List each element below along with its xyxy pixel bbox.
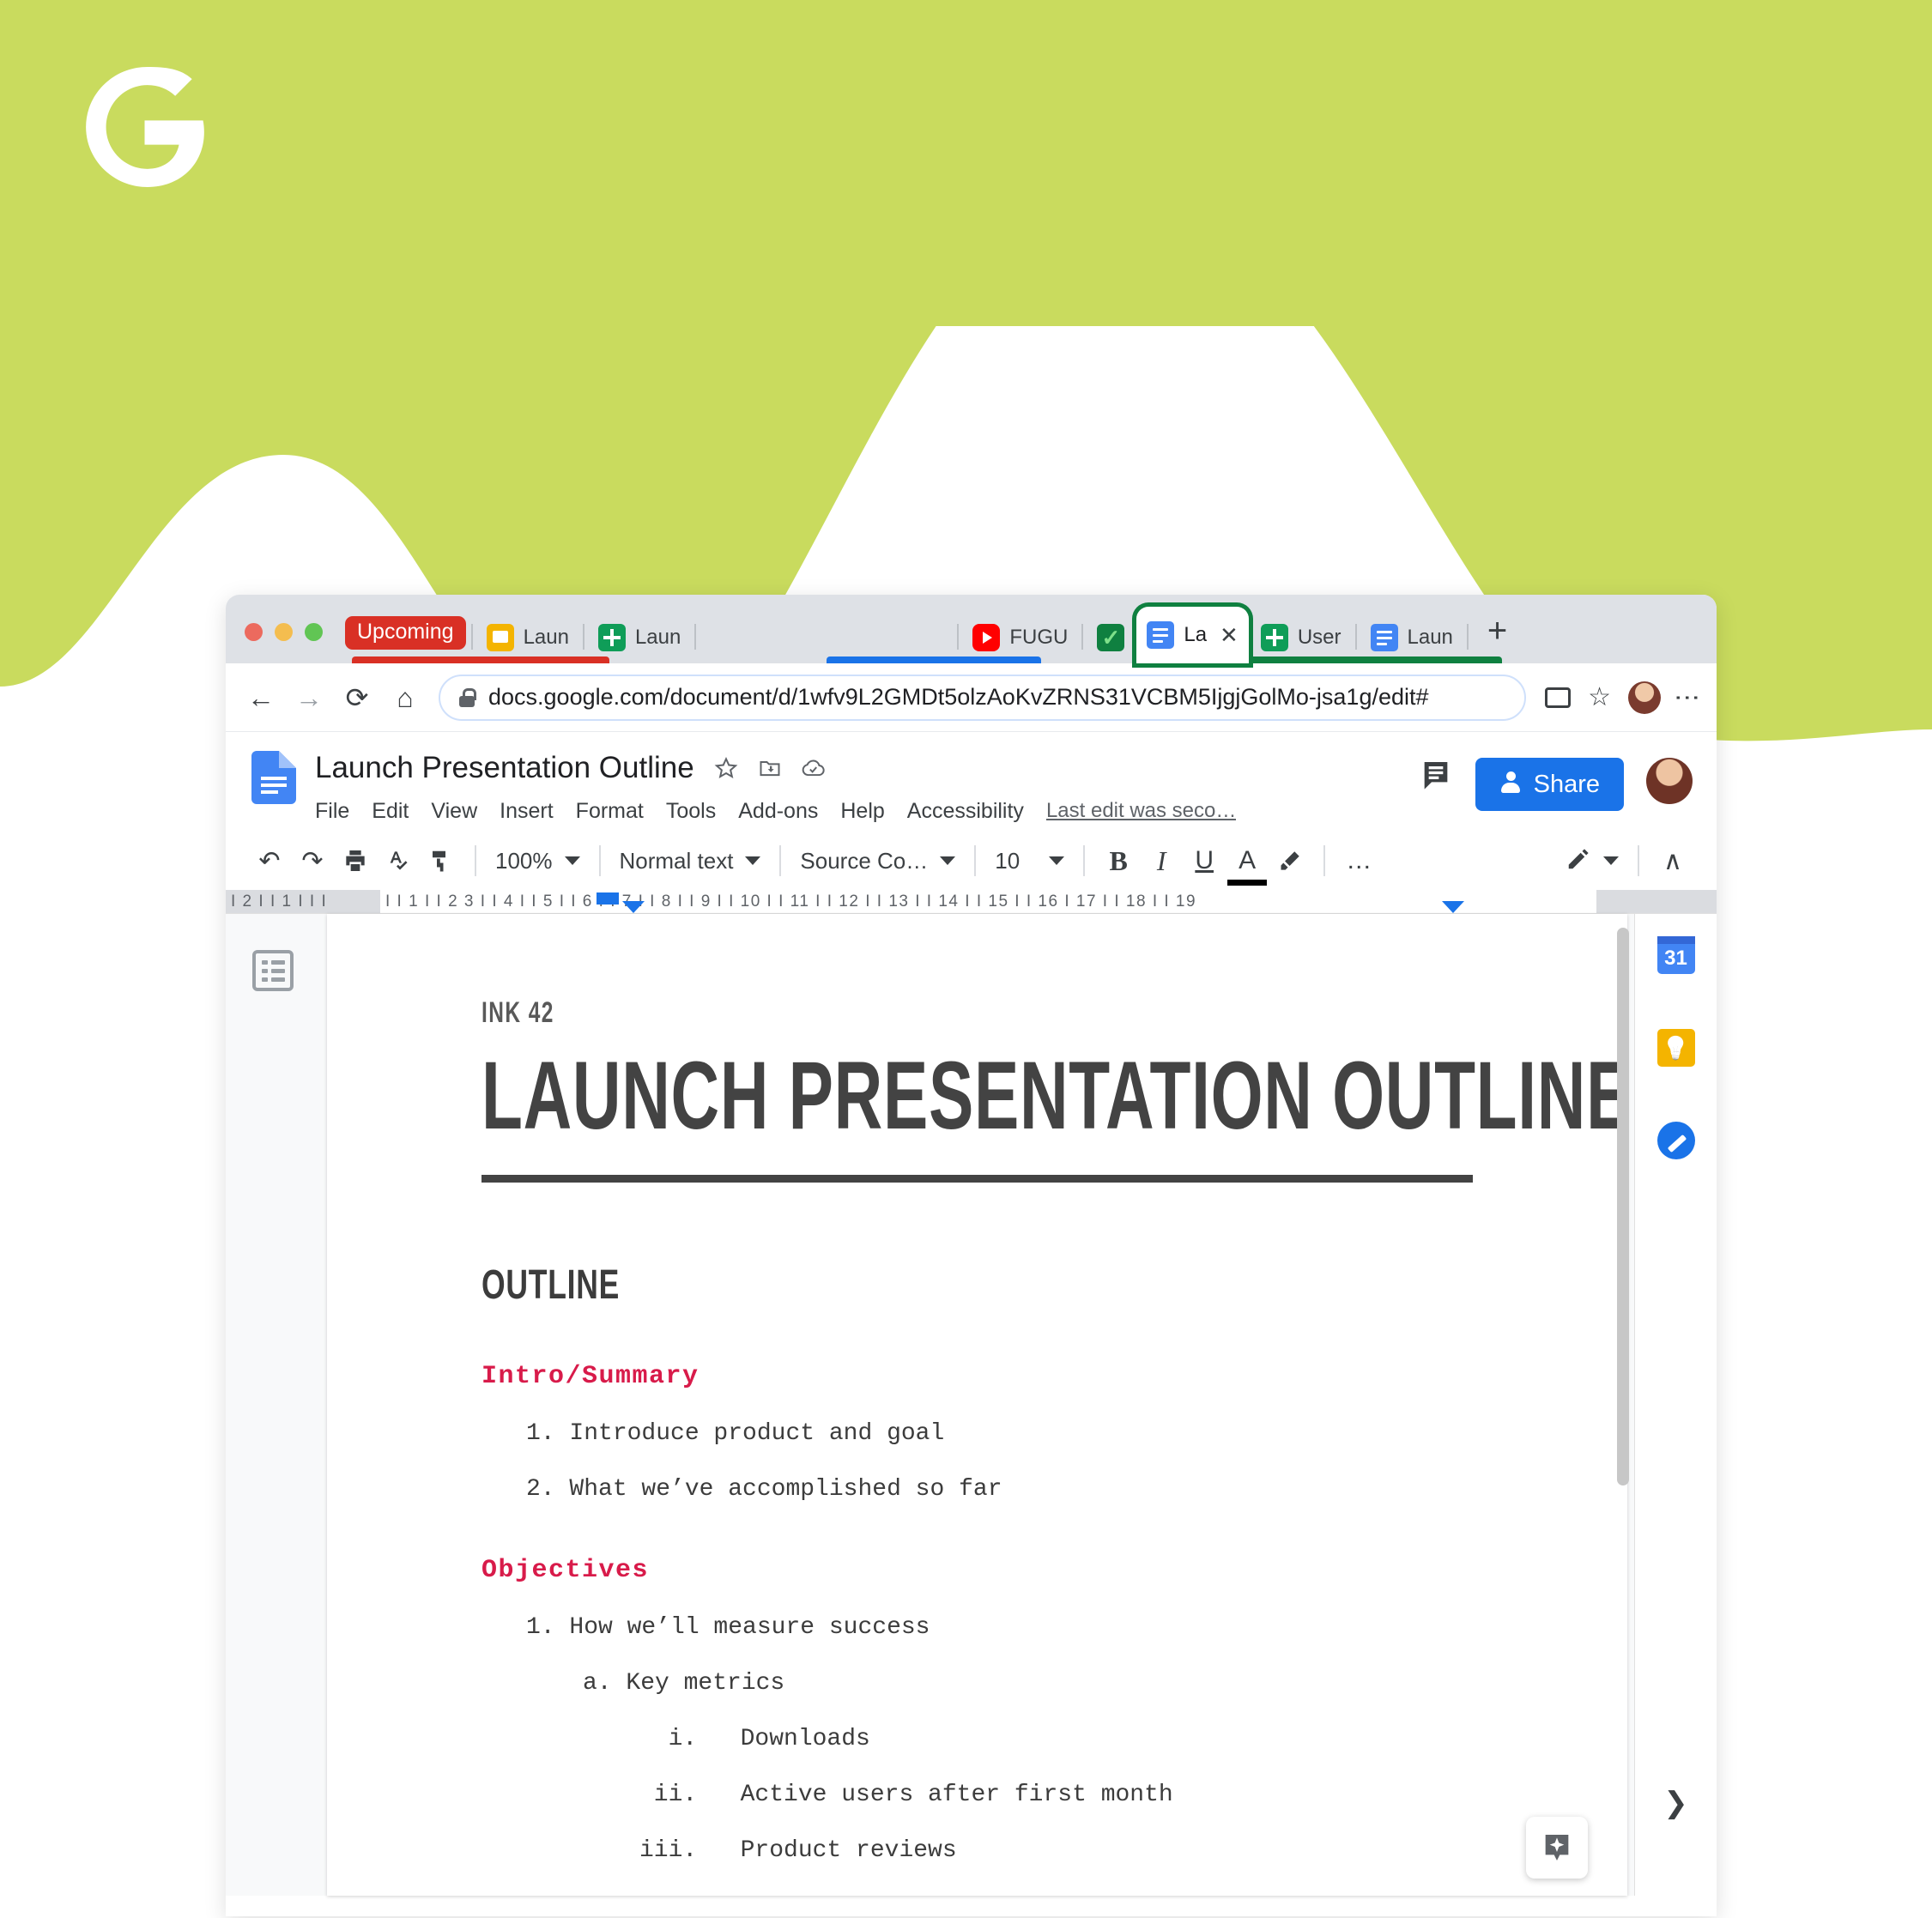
paint-format-icon[interactable] — [420, 839, 463, 882]
chevron-down-icon — [565, 856, 580, 865]
tab-divider — [583, 624, 584, 650]
google-g-logo — [74, 67, 215, 187]
highlight-pen-icon[interactable] — [1269, 839, 1311, 882]
kebab-menu-icon[interactable]: ⋮ — [1678, 685, 1696, 711]
chevron-down-icon — [745, 856, 760, 865]
paragraph-style-selector[interactable]: Normal text — [613, 841, 768, 880]
explore-sparkle-icon[interactable] — [1526, 1817, 1588, 1879]
address-bar[interactable]: docs.google.com/document/d/1wfv9L2GMDt5o… — [439, 675, 1526, 721]
tab-divider — [1467, 624, 1469, 650]
tasks-icon — [1097, 624, 1124, 651]
sheets-icon — [598, 624, 626, 651]
text-color-button[interactable]: A — [1226, 839, 1269, 882]
docs-header-actions: Share — [1419, 746, 1693, 832]
calendar-badge: 31 — [1657, 944, 1695, 974]
tab-title: Laun — [635, 626, 681, 650]
list-item: i. Downloads — [481, 1726, 1517, 1752]
toolbar-divider — [475, 845, 476, 876]
undo-icon[interactable]: ↶ — [248, 839, 291, 882]
ruler-gutter-right — [1596, 890, 1717, 913]
browser-window: Upcoming Laun Laun FUGU — [226, 595, 1717, 1916]
omnibox-actions: ☆ ⋮ — [1545, 681, 1696, 714]
italic-button[interactable]: I — [1140, 839, 1183, 882]
docs-title-block: Launch Presentation Outline — [315, 746, 1419, 832]
document-scrollbar[interactable] — [1617, 928, 1629, 1485]
tab-tasks[interactable] — [1085, 612, 1136, 663]
share-button-label: Share — [1534, 771, 1600, 799]
move-to-folder-icon[interactable] — [758, 756, 782, 780]
tab-title: Laun — [1408, 626, 1453, 650]
tab-sheets-user[interactable]: User — [1249, 612, 1354, 663]
window-controls — [245, 623, 323, 663]
keep-icon — [487, 624, 514, 651]
bold-button[interactable]: B — [1097, 839, 1140, 882]
reload-icon[interactable]: ⟳ — [342, 684, 372, 711]
ruler-marks: I I 1 I I 2 3 I I 4 I I 5 I I 6 I I 7 I … — [380, 890, 1596, 913]
list-item: iii. Product reviews — [481, 1837, 1517, 1864]
font-value: Source Co… — [800, 848, 928, 874]
browser-toolbar: ← → ⟳ ⌂ docs.google.com/document/d/1wfv9… — [226, 663, 1717, 732]
subsection-heading: Objectives — [481, 1556, 1517, 1585]
zoom-value: 100% — [495, 848, 553, 874]
browser-tab-strip: Upcoming Laun Laun FUGU — [226, 595, 1717, 663]
google-docs-icon — [251, 751, 296, 804]
address-bar-url: docs.google.com/document/d/1wfv9L2GMDt5o… — [488, 684, 1429, 711]
edit-mode-selector[interactable] — [1559, 841, 1626, 880]
star-icon[interactable]: ☆ — [1588, 685, 1611, 711]
docs-icon — [1147, 621, 1174, 649]
docs-header: Launch Presentation Outline — [226, 732, 1717, 832]
list-item: 2. What we’ve accomplished so far — [481, 1476, 1517, 1503]
tab-group-underline-blue — [827, 656, 1041, 663]
toolbar-divider — [1638, 845, 1639, 876]
chevron-down-icon — [1049, 856, 1064, 865]
document-eyebrow: INK 42 — [481, 996, 1227, 1030]
collapse-toolbar-icon[interactable]: ∧ — [1651, 839, 1694, 882]
toolbar-divider — [599, 845, 601, 876]
tab-hidden-group[interactable] — [698, 612, 955, 663]
tab-divider — [694, 624, 696, 650]
spellcheck-icon[interactable] — [377, 839, 420, 882]
paragraph-style-value: Normal text — [620, 848, 734, 874]
tab-title: FUGU — [1009, 626, 1068, 650]
menu-file[interactable]: File — [315, 799, 349, 824]
google-calendar-icon[interactable]: 31 — [1657, 936, 1695, 974]
docs-body: INK 42 LAUNCH PRESENTATION OUTLINE OUTLI… — [226, 914, 1717, 1896]
tab-docs-active[interactable]: La ✕ — [1136, 607, 1249, 663]
docs-ruler[interactable]: I 2 I I 1 I I I I I 1 I I 2 3 I I 4 I I … — [226, 890, 1717, 914]
first-line-indent-marker[interactable] — [622, 901, 645, 913]
zoom-selector[interactable]: 100% — [488, 841, 587, 880]
document-canvas: INK 42 LAUNCH PRESENTATION OUTLINE OUTLI… — [320, 914, 1634, 1896]
more-options-icon[interactable]: … — [1337, 839, 1380, 882]
share-button[interactable]: Share — [1475, 758, 1624, 811]
tab-divider — [1355, 624, 1357, 650]
redo-icon[interactable]: ↷ — [291, 839, 334, 882]
font-size-value: 10 — [995, 848, 1020, 874]
chevron-down-icon — [1603, 856, 1619, 865]
menu-add-ons[interactable]: Add-ons — [738, 799, 818, 824]
tab-divider — [471, 624, 473, 650]
menu-tools[interactable]: Tools — [666, 799, 716, 824]
maximize-window-button[interactable] — [305, 623, 323, 641]
chevron-right-icon[interactable]: ❯ — [1663, 1786, 1688, 1820]
tab-group-underline-red — [352, 656, 609, 663]
menu-format[interactable]: Format — [576, 799, 644, 824]
tab-divider — [1081, 624, 1083, 650]
star-icon[interactable] — [713, 755, 739, 781]
section-heading-outline: OUTLINE — [481, 1262, 1248, 1309]
chevron-down-icon — [940, 856, 955, 865]
docs-left-rail — [226, 914, 320, 1896]
menu-insert[interactable]: Insert — [500, 799, 554, 824]
underline-button[interactable]: U — [1183, 839, 1226, 882]
menu-edit[interactable]: Edit — [372, 799, 409, 824]
comment-history-icon[interactable] — [1419, 758, 1453, 792]
cast-icon[interactable] — [1545, 687, 1571, 708]
avatar[interactable] — [1628, 681, 1661, 714]
youtube-icon — [972, 624, 1000, 651]
close-window-button[interactable] — [245, 623, 263, 641]
page-title[interactable]: Launch Presentation Outline — [315, 751, 694, 785]
saved-to-drive-icon[interactable] — [801, 756, 827, 780]
docs-title-row: Launch Presentation Outline — [315, 746, 1419, 790]
home-icon[interactable]: ⌂ — [391, 684, 420, 711]
forward-icon[interactable]: → — [294, 684, 324, 711]
minimize-window-button[interactable] — [275, 623, 293, 641]
document-page[interactable]: INK 42 LAUNCH PRESENTATION OUTLINE OUTLI… — [327, 914, 1627, 1896]
docs-icon — [1371, 624, 1398, 651]
document-heading: LAUNCH PRESENTATION OUTLINE — [481, 1042, 1207, 1149]
menu-view[interactable]: View — [431, 799, 477, 824]
docs-menu-bar: File Edit View Insert Format Tools Add-o… — [315, 790, 1419, 832]
tab-sheets-launch[interactable]: Laun — [586, 612, 693, 663]
sheets-icon — [1261, 624, 1288, 651]
left-indent-marker[interactable] — [597, 892, 619, 905]
font-selector[interactable]: Source Co… — [793, 841, 962, 880]
back-icon[interactable]: ← — [246, 684, 276, 711]
close-tab-icon[interactable]: ✕ — [1216, 624, 1239, 646]
list-item: a. Key metrics — [481, 1670, 1517, 1697]
right-indent-marker[interactable] — [1442, 901, 1464, 913]
last-edit-link[interactable]: Last edit was seco… — [1046, 799, 1236, 823]
ruler-gutter-left: I 2 I I 1 I I I — [226, 890, 380, 913]
menu-accessibility[interactable]: Accessibility — [907, 799, 1024, 824]
ruler-page-area: I I 1 I I 2 3 I I 4 I I 5 I I 6 I I 7 I … — [380, 890, 1596, 913]
heading-divider — [481, 1175, 1473, 1183]
list-item: ii. Active users after first month — [481, 1782, 1517, 1808]
tab-group-upcoming[interactable]: Upcoming — [345, 616, 466, 650]
ruler-gutter-marks: I 2 I I 1 I I I — [226, 890, 380, 913]
subsection-heading: Intro/Summary — [481, 1362, 1517, 1391]
toolbar-divider — [1323, 845, 1325, 876]
list-item: 1. How we’ll measure success — [481, 1614, 1517, 1641]
tab-title: La — [1184, 623, 1207, 647]
pencil-icon — [1566, 846, 1591, 876]
tab-docs-launch[interactable]: Laun — [1359, 612, 1465, 663]
docs-toolbar: ↶ ↷ 100% Normal text Source Co… 10 — [226, 832, 1717, 890]
google-tasks-icon[interactable] — [1657, 1122, 1695, 1159]
google-keep-icon[interactable] — [1657, 1029, 1695, 1067]
tab-title: User — [1298, 626, 1341, 650]
toolbar-divider — [779, 845, 781, 876]
toolbar-divider — [974, 845, 976, 876]
docs-side-panel: 31 ❯ — [1634, 914, 1717, 1896]
list-item: 1. Introduce product and goal — [481, 1420, 1517, 1447]
tab-title: Laun — [524, 626, 569, 650]
add-person-icon — [1499, 771, 1522, 797]
tab-list: Upcoming Laun Laun FUGU — [345, 595, 1717, 663]
lock-icon — [459, 688, 475, 707]
font-size-selector[interactable]: 10 — [988, 841, 1071, 880]
avatar[interactable] — [1646, 758, 1693, 804]
tab-keep-launch[interactable]: Laun — [475, 612, 581, 663]
tab-youtube-fugu[interactable]: FUGU — [960, 612, 1080, 663]
tab-divider — [957, 624, 959, 650]
menu-help[interactable]: Help — [840, 799, 884, 824]
document-outline-icon[interactable] — [252, 950, 294, 991]
print-icon[interactable] — [334, 839, 377, 882]
toolbar-divider — [1083, 845, 1085, 876]
